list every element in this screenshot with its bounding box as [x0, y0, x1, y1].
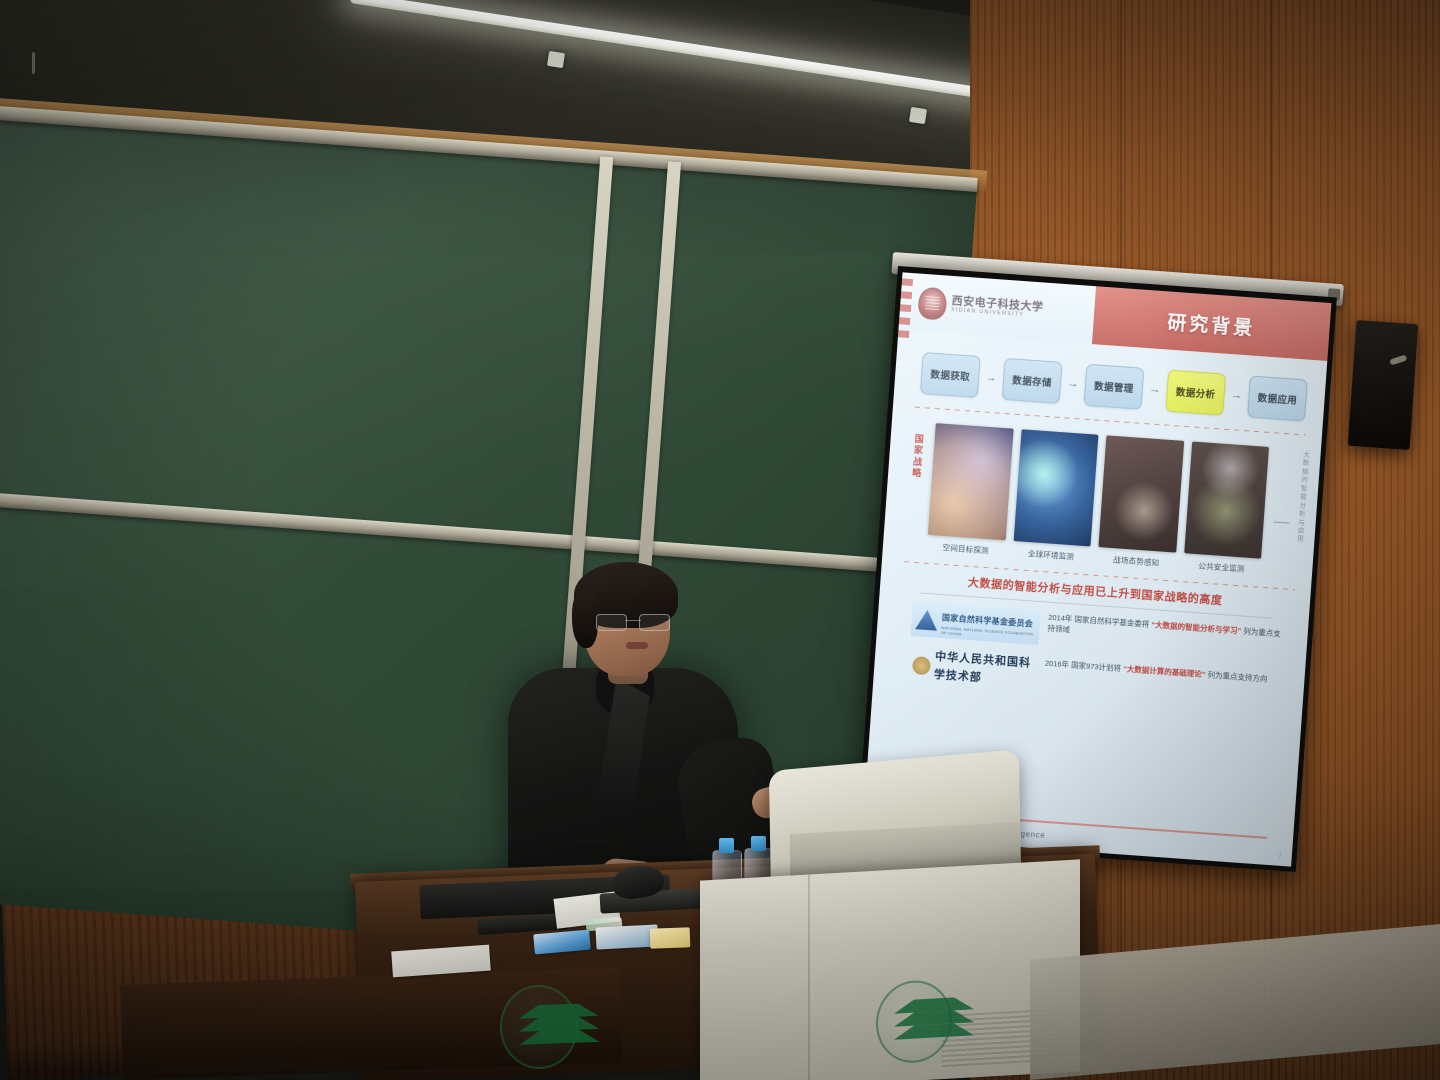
slide-vertical-label-left: 国家战略 — [910, 434, 927, 480]
flow-arrow-icon: → — [1149, 384, 1161, 396]
flow-step-4-highlighted: 数据分析 — [1165, 370, 1226, 416]
funding-text-highlight-2: “大数据计算的基础理论” — [1123, 664, 1206, 679]
chalk-box — [650, 927, 691, 948]
wall-speaker — [1348, 320, 1419, 450]
slide-header-logo-area: 西安电子科技大学 XIDIAN UNIVERSITY — [898, 272, 1095, 344]
slide-title: 研究背景 — [1167, 307, 1257, 340]
most-logo: 中华人民共和国科学技术部 MINISTRY OF SCIENCE AND TEC… — [907, 648, 1037, 691]
funding-text-highlight-1: “大数据的智能分析与学习” — [1151, 620, 1241, 635]
funding-text-prefix-2: 2016年 国家973计划将 — [1045, 659, 1122, 673]
slide-tick-mark — [1274, 522, 1290, 524]
flow-arrow-icon: → — [1067, 378, 1079, 390]
gallery-caption-4: 公共安全监测 — [1182, 559, 1260, 576]
gallery-image-public-safety — [1184, 441, 1269, 558]
nsfc-logo: 国家自然科学基金委员会 NATIONAL NATURAL SCIENCE FOU… — [911, 602, 1041, 645]
funding-text-suffix-2: 列为重点支持方向 — [1207, 670, 1267, 683]
gallery-image-space-target — [928, 423, 1013, 540]
slide-title-bar: 研究背景 — [1091, 286, 1331, 361]
flow-step-5: 数据应用 — [1247, 375, 1308, 421]
most-seal-icon — [912, 656, 931, 675]
flow-step-1: 数据获取 — [920, 352, 981, 398]
slide-page-number: 7 — [1278, 854, 1282, 860]
slide-vertical-label-right: 大数据的智能分析与应用 — [1294, 451, 1313, 544]
presenter-mouth — [626, 642, 648, 649]
funding-text-nsfc: 2014年 国家自然科学基金委将 “大数据的智能分析与学习” 列为重点支持领域 — [1047, 612, 1288, 652]
flow-step-2: 数据存储 — [1002, 358, 1063, 404]
nsfc-triangle-icon — [915, 609, 938, 631]
slide-section-markers — [897, 278, 913, 344]
emblem-chevron-icon — [894, 999, 934, 1045]
most-name-en: MINISTRY OF SCIENCE AND TECHNOLOGY — [933, 682, 1035, 691]
emblem-chevron-icon — [518, 1004, 560, 1049]
gallery-caption-2: 全球环境监测 — [1012, 547, 1090, 564]
light-tube-connector — [547, 51, 565, 68]
flow-arrow-icon: → — [1231, 390, 1243, 402]
ceiling-hook — [32, 52, 35, 74]
flow-arrow-icon: → — [985, 372, 997, 384]
gallery-caption-1: 空间目标探测 — [927, 541, 1005, 558]
flow-step-3: 数据管理 — [1083, 364, 1144, 410]
university-crest-icon — [917, 287, 947, 321]
gallery-caption-3: 战场态势感知 — [1097, 553, 1175, 570]
presenter-hair-side — [572, 590, 598, 648]
eyeglasses-icon — [596, 614, 670, 630]
application-gallery — [928, 423, 1269, 559]
podium-cabinet — [700, 859, 1080, 1080]
gallery-image-global-environment — [1013, 429, 1098, 546]
lecture-hall-photo: 西安电子科技大学 XIDIAN UNIVERSITY 研究背景 数据获取 → 数… — [0, 0, 1440, 1080]
funding-text-most: 2016年 国家973计划将 “大数据计算的基础理论” 列为重点支持方向 — [1045, 658, 1285, 686]
gallery-image-battlefield — [1098, 435, 1183, 552]
podium-university-emblem — [876, 979, 952, 1065]
most-name-cn: 中华人民共和国科学技术部 — [933, 650, 1031, 683]
university-name-block: 西安电子科技大学 XIDIAN UNIVERSITY — [951, 296, 1044, 320]
light-tube-connector — [909, 107, 927, 124]
